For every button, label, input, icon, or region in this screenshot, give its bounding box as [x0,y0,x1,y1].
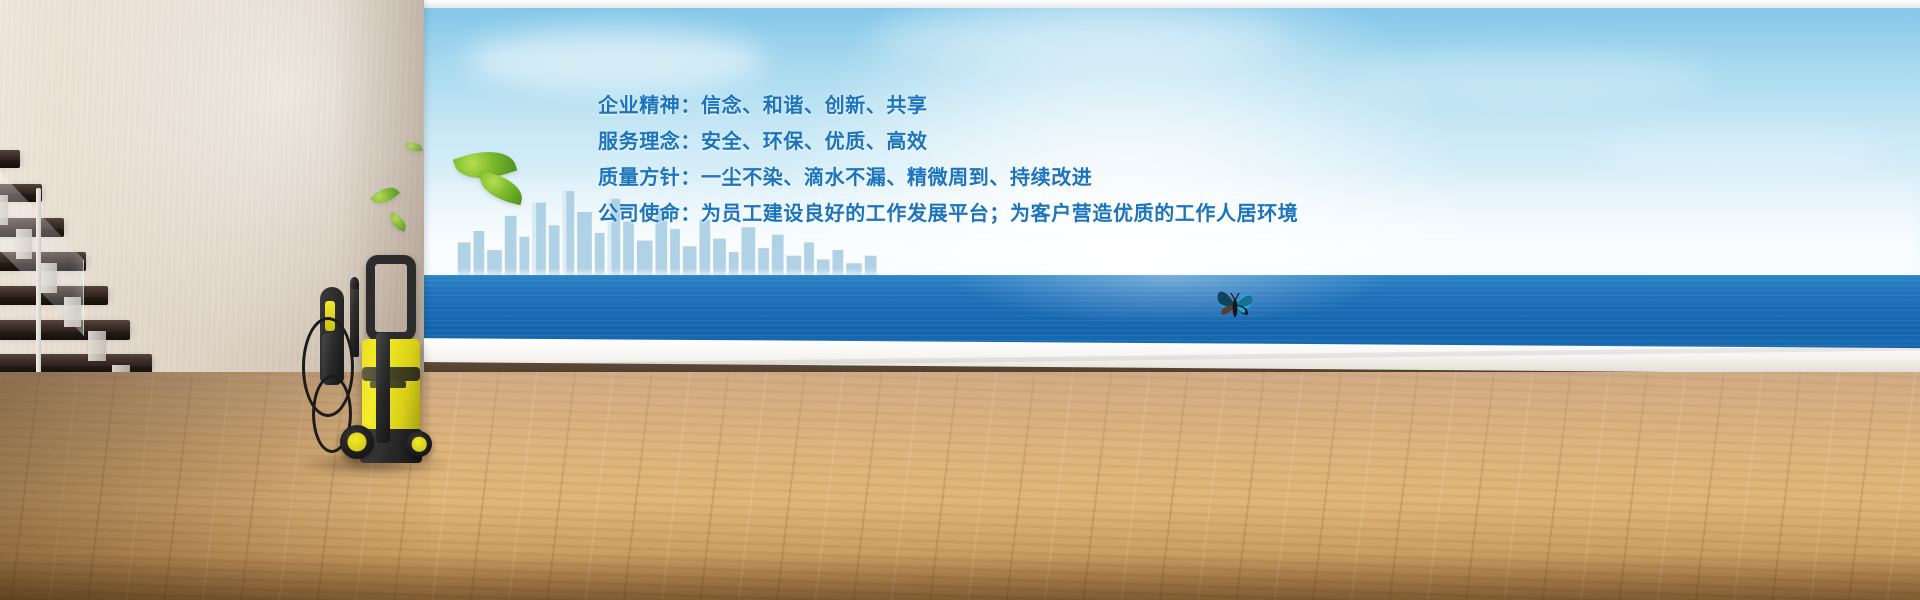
cloud [870,12,1290,64]
washer-body-panel [362,367,420,381]
slogan-line-1: 企业精神：信念、和谐、创新、共享 [598,88,1358,124]
washer-wheel [340,425,374,459]
cloud [465,30,765,90]
slogan-block: 企业精神：信念、和谐、创新、共享 服务理念：安全、环保、优质、高效 质量方针：一… [598,88,1358,232]
blue-butterfly [1209,282,1261,328]
cloud [1350,54,1710,102]
slogan-line-3: 质量方针：一尘不染、滴水不漏、精微周到、持续改进 [598,160,1358,196]
railing-post [36,188,41,378]
banner-stage: 企业精神：信念、和谐、创新、共享 服务理念：安全、环保、优质、高效 质量方针：一… [0,0,1920,600]
pressure-washer [310,255,430,470]
slogan-line-4: 公司使命：为员工建设良好的工作发展平台；为客户营造优质的工作人居环境 [598,196,1358,232]
washer-wheel [406,431,432,457]
washer-carry-handle [366,255,416,341]
floor-shadow-bottom [0,554,1920,600]
cloud [1590,132,1890,172]
wooden-floor [0,372,1920,600]
washer-chassis [376,333,390,443]
window-frame-top [420,0,1920,8]
slogan-line-2: 服务理念：安全、环保、优质、高效 [598,124,1358,160]
ocean-sun-glint [945,275,1395,325]
stair-riser [88,331,106,361]
washer-nozzle-tip [350,277,359,289]
